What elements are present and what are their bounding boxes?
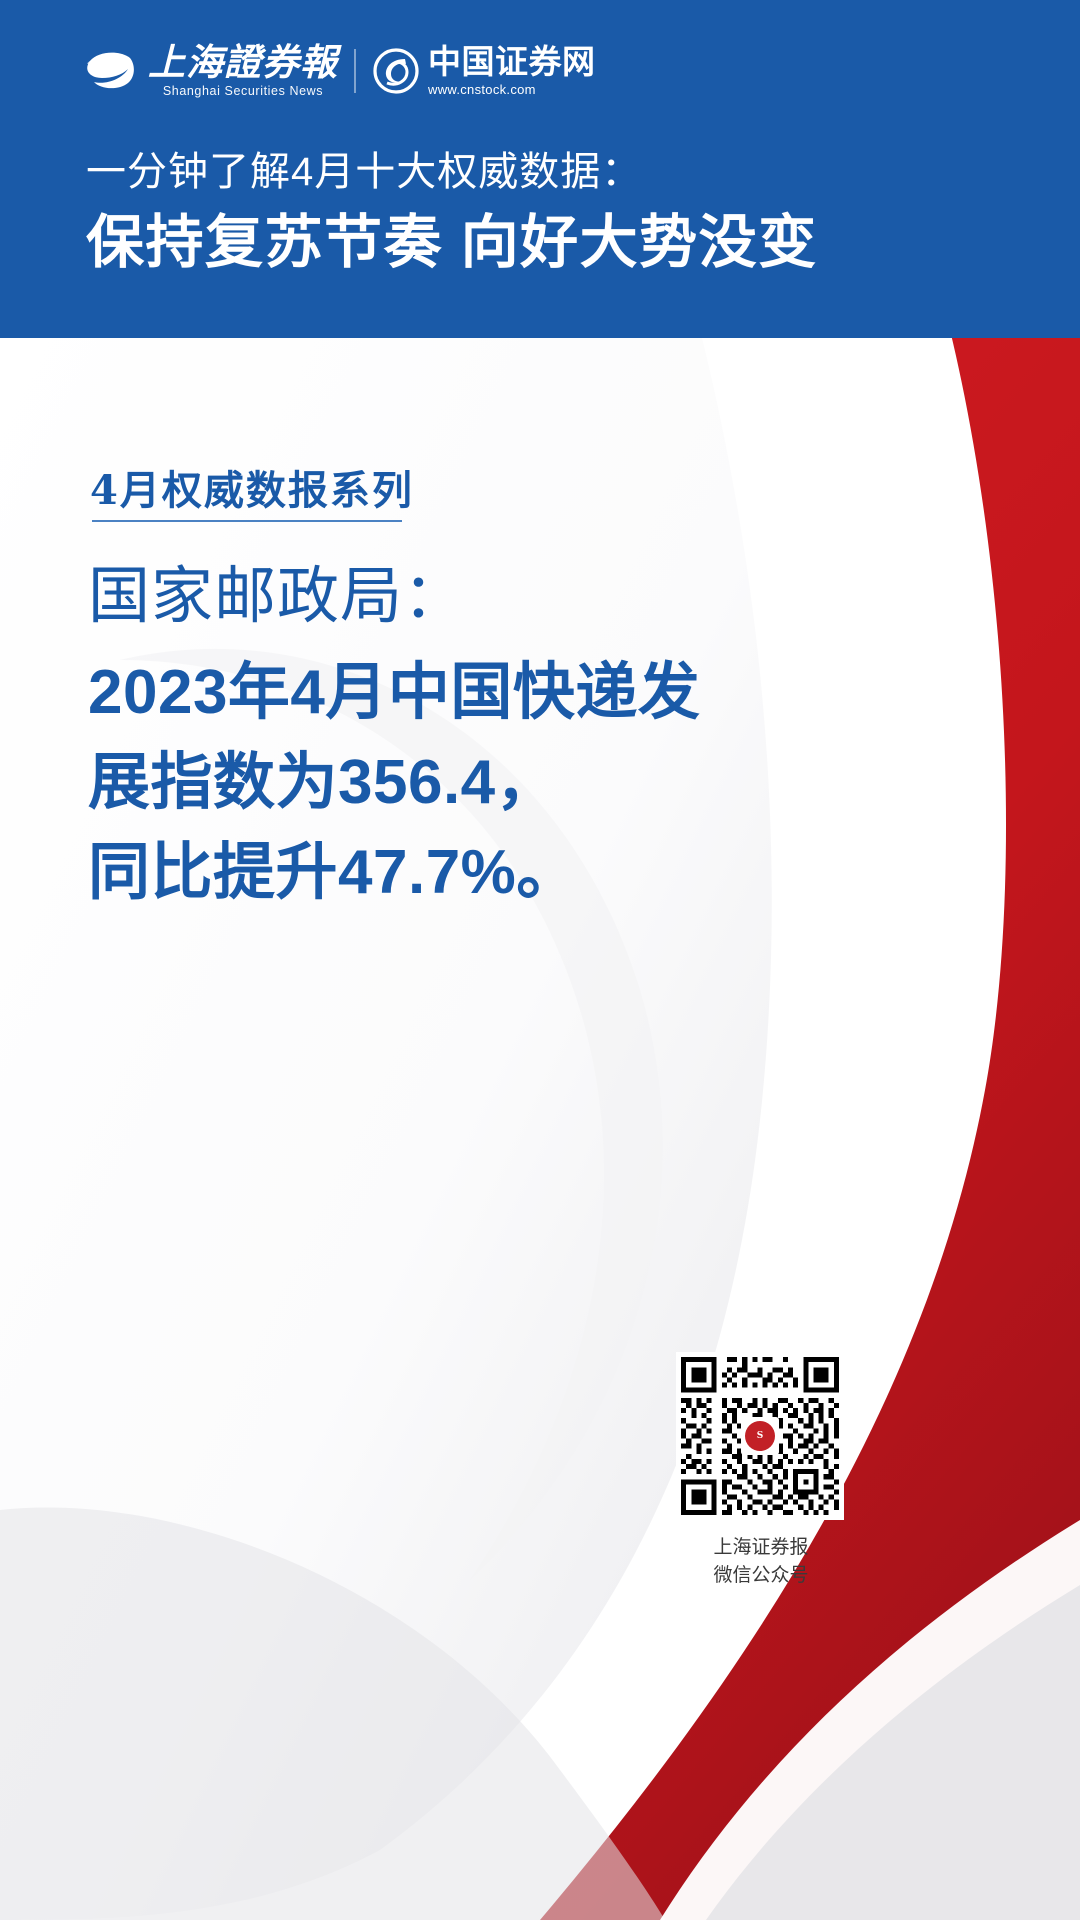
series-label-rule <box>92 520 402 522</box>
logo-row: 上海證券報 Shanghai Securities News 中国证券网 www… <box>80 42 596 100</box>
cnstock-logo: 中国证券网 www.cnstock.com <box>372 45 596 97</box>
qr-center-brand-dot: S <box>745 1421 775 1451</box>
headline-subtitle: 一分钟了解4月十大权威数据： <box>86 148 1006 197</box>
statement-block: 2023年4月中国快递发 展指数为356.4， 同比提升47.7%。 <box>88 648 988 918</box>
qr-caption-line-2: 微信公众号 <box>676 1562 846 1590</box>
ssn-cn-name: 上海證券報 <box>148 44 338 81</box>
statement-line-1: 2023年4月中国快递发 <box>88 648 988 738</box>
header-banner: 上海證券報 Shanghai Securities News 中国证券网 www… <box>0 0 1080 338</box>
headline-title: 保持复苏节奏 向好大势没变 <box>86 207 1006 280</box>
cnstock-cn-name: 中国证券网 <box>428 45 596 78</box>
qr-caption-line-1: 上海证券报 <box>676 1534 846 1562</box>
statement-line-3: 同比提升47.7%。 <box>88 828 988 918</box>
cnstock-circle-logo-icon <box>372 47 420 95</box>
qr-code-icon[interactable]: S <box>676 1352 844 1520</box>
cnstock-wordmark: 中国证券网 www.cnstock.com <box>428 45 596 97</box>
shanghai-securities-news-wordmark: 上海證券報 Shanghai Securities News <box>148 44 338 98</box>
ssn-en-name: Shanghai Securities News <box>163 84 323 98</box>
shanghai-securities-news-swirl-logo-icon <box>80 42 138 100</box>
shanghai-securities-news-logo: 上海證券報 Shanghai Securities News <box>80 42 338 100</box>
organization-name: 国家邮政局： <box>88 558 466 636</box>
qr-center-brand-logo-icon: S <box>741 1417 779 1455</box>
cnstock-en-name: www.cnstock.com <box>428 82 596 97</box>
series-label: 4月权威数报系列 <box>90 458 414 516</box>
statement-line-2: 展指数为356.4， <box>88 738 988 828</box>
logo-divider <box>354 49 356 93</box>
qr-caption: 上海证券报 微信公众号 <box>676 1534 846 1589</box>
qr-block: S 上海证券报 微信公众号 <box>676 1352 846 1589</box>
headline-group: 一分钟了解4月十大权威数据： 保持复苏节奏 向好大势没变 <box>86 148 1006 279</box>
